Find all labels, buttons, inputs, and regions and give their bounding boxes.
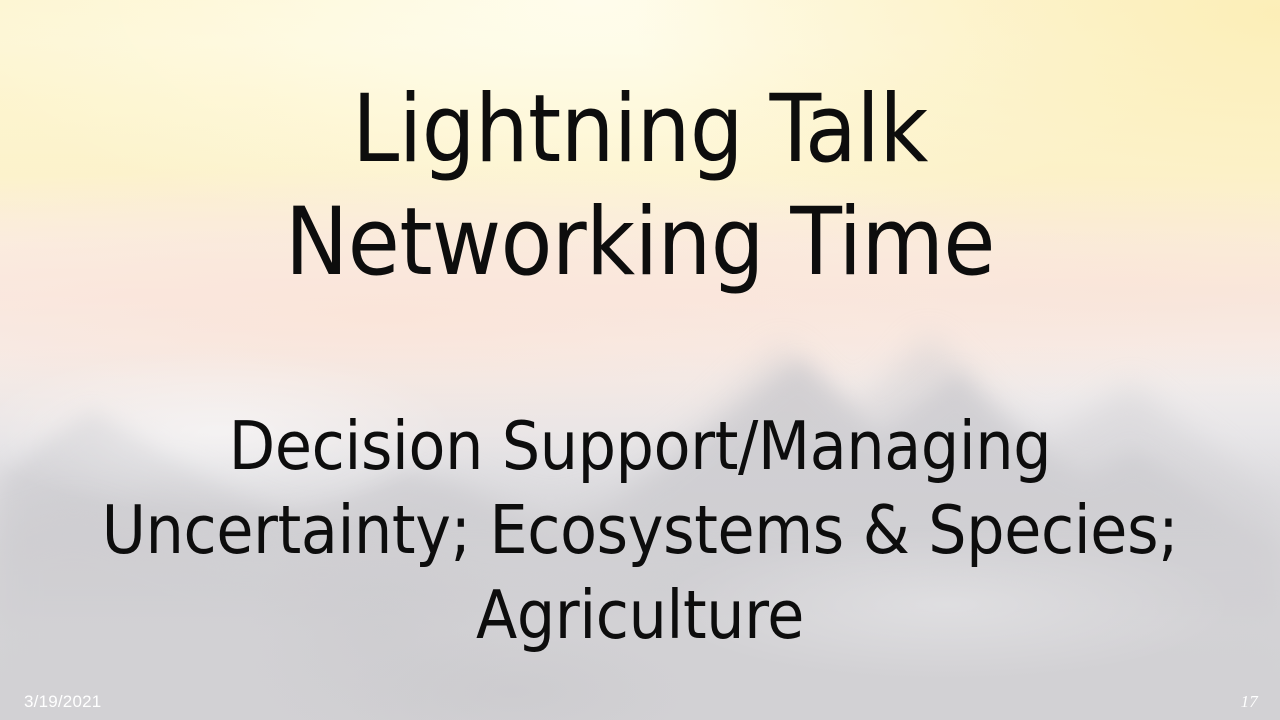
- slide-footer-date: 3/19/2021: [24, 693, 101, 710]
- slide-number: 17: [1241, 693, 1258, 710]
- slide-title: Lightning Talk Networking Time: [64, 74, 1216, 300]
- slide-subtitle: Decision Support/Managing Uncertainty; E…: [44, 404, 1236, 657]
- presentation-slide: Lightning Talk Networking Time Decision …: [0, 0, 1280, 720]
- slide-content: Lightning Talk Networking Time Decision …: [0, 0, 1280, 720]
